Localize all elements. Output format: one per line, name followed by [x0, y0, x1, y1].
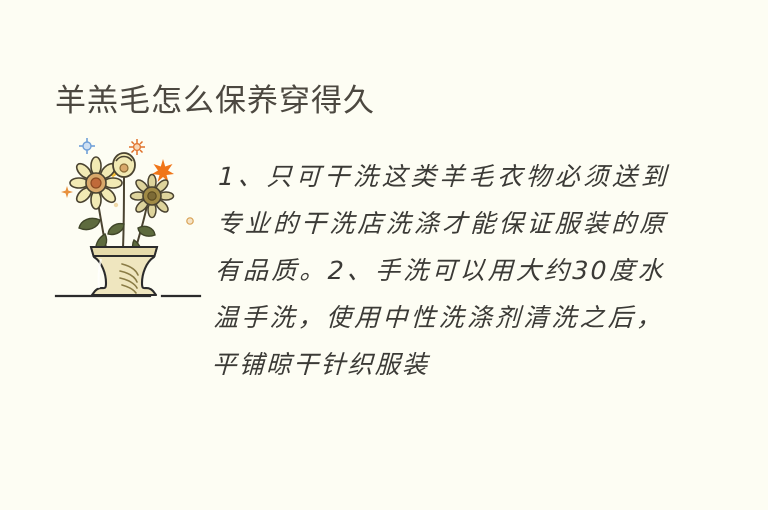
sparkle-blue — [79, 138, 95, 154]
vase — [91, 247, 157, 295]
sparkle-orange-tiny — [61, 186, 73, 198]
sparkle-orange-star — [129, 139, 145, 155]
flower-vase-illustration — [50, 128, 210, 303]
article-body-text: 1、只可干洗这类羊毛衣物必须送到专业的干洗店洗涤才能保证服装的原有品质。2、手洗… — [211, 153, 669, 388]
sparkle-pale-dot — [114, 203, 118, 207]
flower-right — [131, 175, 174, 218]
article-page: 羊羔毛怎么保养穿得久 — [0, 0, 768, 510]
page-title: 羊羔毛怎么保养穿得久 — [55, 78, 375, 124]
sparkle-tan-small — [187, 218, 193, 224]
flower-bud-middle — [113, 153, 135, 177]
